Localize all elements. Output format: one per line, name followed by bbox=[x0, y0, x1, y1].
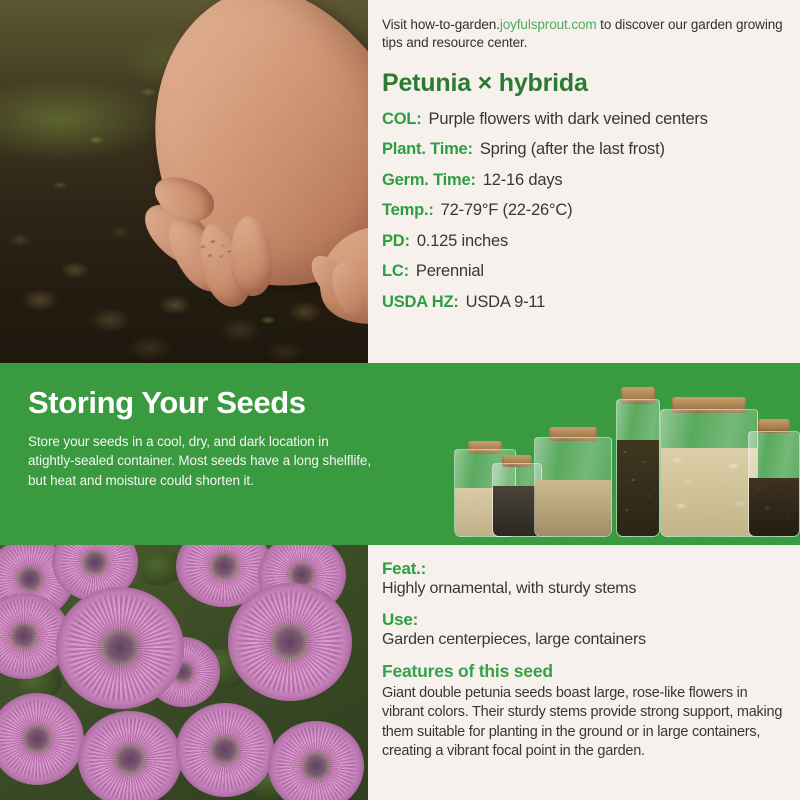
feat-value: Highly ornamental, with sturdy stems bbox=[382, 580, 788, 598]
storage-jar bbox=[616, 387, 660, 537]
storage-jar bbox=[534, 427, 612, 537]
spec-row-pd: PD: 0.125 inches bbox=[382, 232, 792, 251]
species-name: Petunia × hybrida bbox=[382, 69, 792, 98]
feat-label: Feat.: bbox=[382, 559, 788, 579]
jar-body bbox=[748, 431, 800, 537]
petunia-bloom bbox=[56, 587, 184, 709]
website-link[interactable]: joyfulsprout.com bbox=[500, 17, 597, 32]
spec-row-temp: Temp.: 72-79°F (22-26°C) bbox=[382, 201, 792, 220]
jar-seeds bbox=[661, 448, 757, 536]
spec-value: 72-79°F (22-26°C) bbox=[441, 201, 573, 220]
spec-value: USDA 9-11 bbox=[466, 293, 546, 312]
jar-body bbox=[616, 399, 660, 537]
bloom-center bbox=[21, 723, 53, 754]
spec-label: USDA HZ: bbox=[382, 293, 459, 312]
storing-your-seeds-band: Storing Your Seeds Store your seeds in a… bbox=[0, 363, 800, 545]
spec-label: Plant. Time: bbox=[382, 140, 473, 159]
spec-value: Purple flowers with dark veined centers bbox=[429, 110, 708, 129]
spec-label: COL: bbox=[382, 110, 422, 129]
storage-jar bbox=[660, 397, 758, 537]
spec-row-lc: LC: Perennial bbox=[382, 262, 792, 281]
jar-seeds bbox=[617, 440, 659, 536]
spec-value: Perennial bbox=[416, 262, 484, 281]
storage-text-block: Storing Your Seeds Store your seeds in a… bbox=[28, 385, 378, 490]
petunia-bloom bbox=[268, 721, 364, 800]
bloom-center bbox=[98, 627, 142, 668]
purple-petunia-flowers-photo bbox=[0, 545, 368, 800]
bloom-center bbox=[208, 734, 241, 766]
features-panel: Feat.: Highly ornamental, with sturdy st… bbox=[368, 545, 800, 800]
storage-title: Storing Your Seeds bbox=[28, 385, 378, 421]
spec-label: Temp.: bbox=[382, 201, 434, 220]
spec-row-germ-time: Germ. Time: 12-16 days bbox=[382, 171, 792, 190]
features-heading: Features of this seed bbox=[382, 661, 788, 682]
storage-jar bbox=[748, 419, 800, 537]
spec-value: 12-16 days bbox=[483, 171, 563, 190]
petunia-bloom bbox=[78, 711, 182, 800]
bloom-center bbox=[80, 549, 109, 576]
use-value: Garden centerpieces, large containers bbox=[382, 631, 788, 649]
petunia-bloom bbox=[0, 693, 84, 785]
bloom-center bbox=[112, 743, 147, 776]
use-label: Use: bbox=[382, 610, 788, 630]
seed-storage-jars-photo bbox=[448, 371, 800, 545]
storage-body: Store your seeds in a cool, dry, and dar… bbox=[28, 432, 378, 490]
jar-seeds bbox=[749, 478, 799, 536]
petunia-bloom bbox=[176, 703, 274, 797]
bloom-center bbox=[8, 621, 39, 650]
spec-row-usda-hz: USDA HZ: USDA 9-11 bbox=[382, 293, 792, 312]
spec-label: PD: bbox=[382, 232, 410, 251]
jar-body bbox=[660, 409, 758, 537]
intro-text: Visit how-to-garden.joyfulsprout.com to … bbox=[382, 16, 792, 53]
features-description: Giant double petunia seeds boast large, … bbox=[382, 684, 788, 762]
specifications-list: COL: Purple flowers with dark veined cen… bbox=[382, 110, 792, 312]
bloom-center bbox=[269, 622, 311, 662]
petunia-bloom bbox=[228, 583, 352, 701]
spec-label: Germ. Time: bbox=[382, 171, 476, 190]
jar-body bbox=[534, 437, 612, 537]
jar-seeds bbox=[535, 480, 611, 536]
plant-info-panel: Visit how-to-garden.joyfulsprout.com to … bbox=[368, 0, 800, 363]
intro-text-before: Visit how-to-garden. bbox=[382, 17, 500, 32]
spec-row-plant-time: Plant. Time: Spring (after the last fros… bbox=[382, 140, 792, 159]
seed-packet-label: Visit how-to-garden.joyfulsprout.com to … bbox=[0, 0, 800, 800]
spec-row-col: COL: Purple flowers with dark veined cen… bbox=[382, 110, 792, 129]
spec-label: LC: bbox=[382, 262, 409, 281]
bloom-center bbox=[300, 751, 333, 782]
spec-value: Spring (after the last frost) bbox=[480, 140, 665, 159]
spec-value: 0.125 inches bbox=[417, 232, 508, 251]
hands-sowing-seeds-photo bbox=[0, 0, 368, 363]
bloom-center bbox=[15, 565, 45, 592]
bloom-center bbox=[208, 552, 241, 580]
